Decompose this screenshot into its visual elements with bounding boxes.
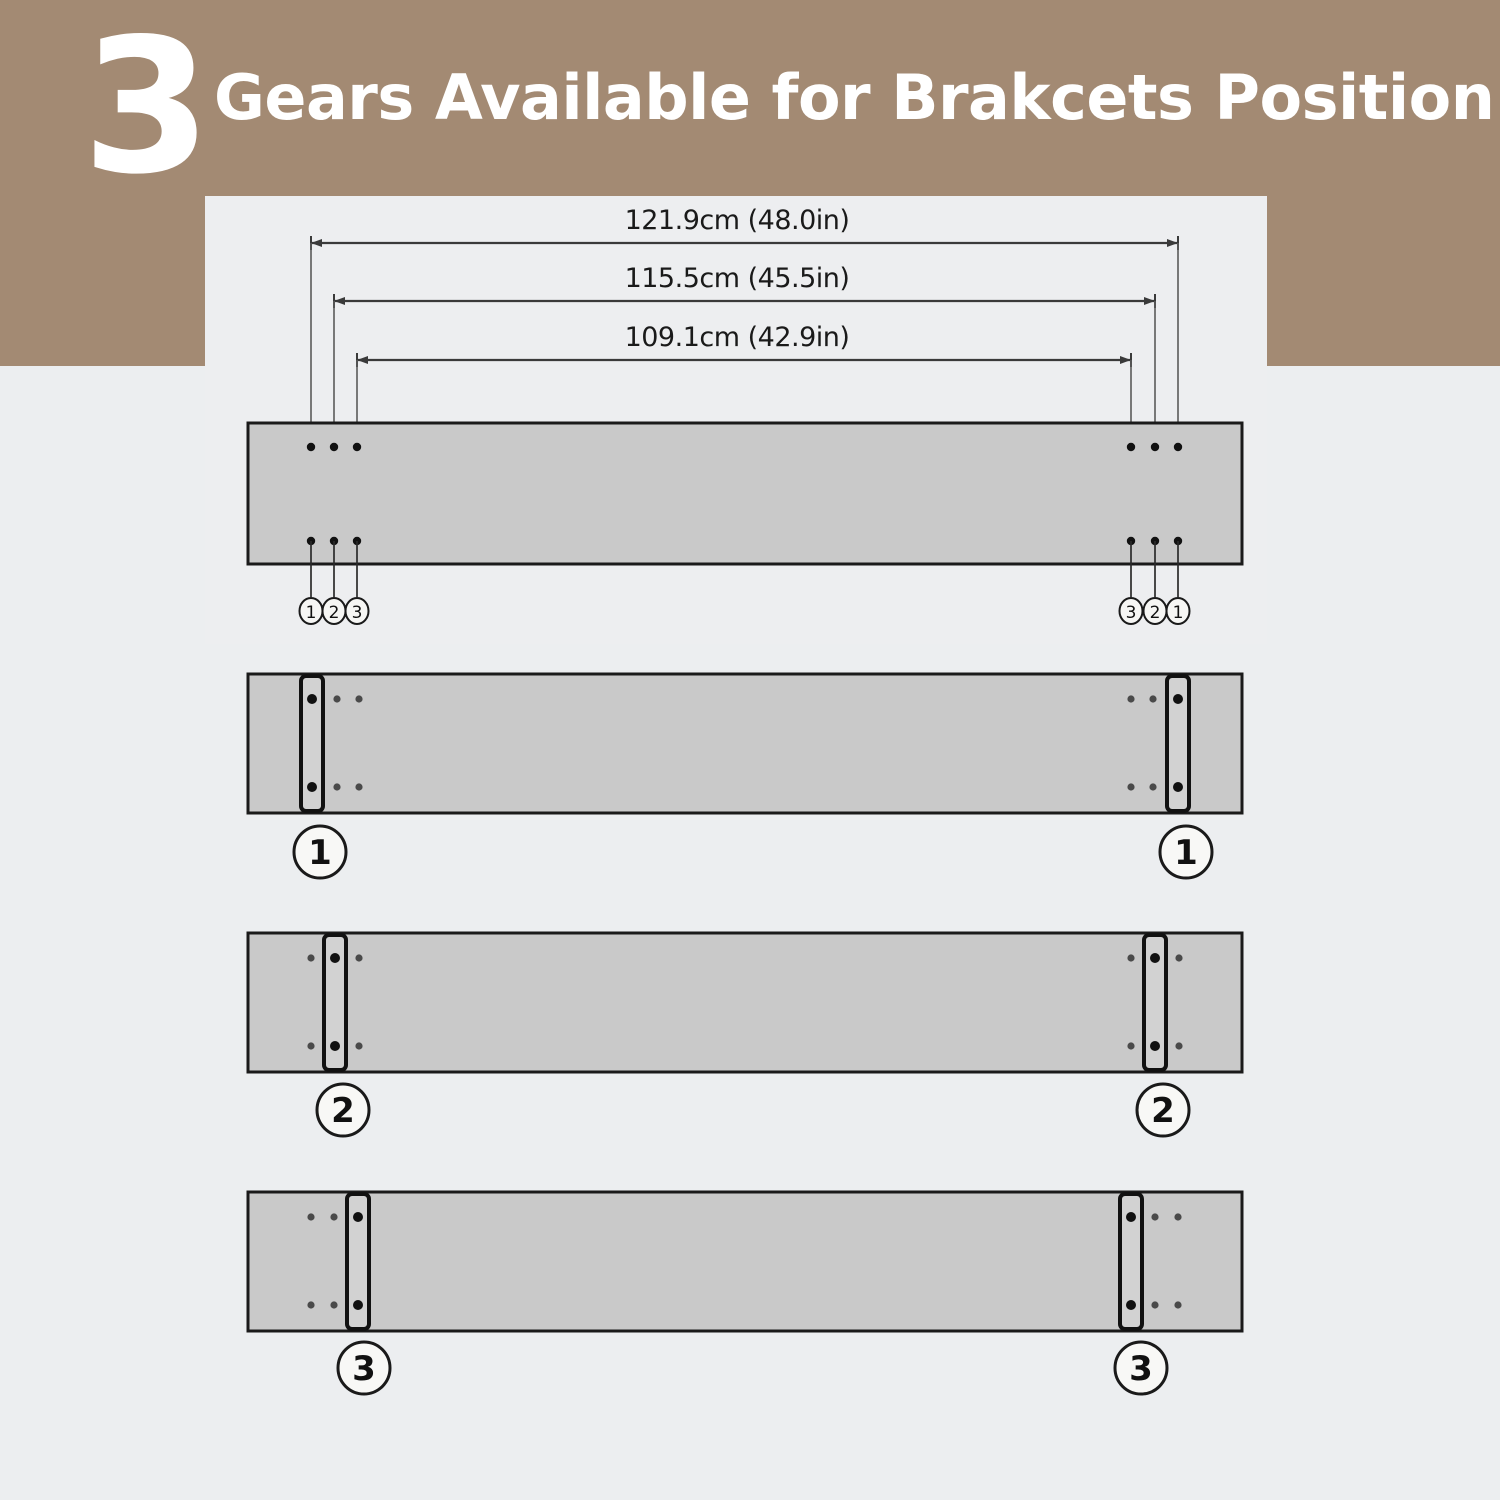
bracket-hole xyxy=(1173,694,1183,704)
callout-label: 2 xyxy=(1151,1091,1175,1131)
hole xyxy=(307,1301,314,1308)
hole xyxy=(1127,695,1134,702)
callout-label: 2 xyxy=(329,603,340,623)
hole xyxy=(1174,1213,1181,1220)
hole xyxy=(307,954,314,961)
callout-label: 1 xyxy=(308,833,332,873)
callout-label: 3 xyxy=(1126,603,1137,623)
callout-label: 3 xyxy=(352,1349,376,1389)
overview-callout-left-1: 1 xyxy=(300,598,323,624)
board-gear-3: 3 3 xyxy=(248,1192,1242,1394)
board-callout-left-3: 3 xyxy=(338,1342,390,1394)
bracket-hole xyxy=(1173,782,1183,792)
board-gear-2: 2 2 xyxy=(248,933,1242,1136)
hole xyxy=(1151,1301,1158,1308)
hole xyxy=(307,1213,314,1220)
hole xyxy=(355,954,362,961)
hole xyxy=(330,443,338,451)
callout-label: 1 xyxy=(1173,603,1184,623)
callout-label: 1 xyxy=(1174,833,1198,873)
callout-label: 2 xyxy=(331,1091,355,1131)
callout-label: 2 xyxy=(1150,603,1161,623)
hole xyxy=(1127,443,1135,451)
board-callout-right-2: 2 xyxy=(1137,1084,1189,1136)
bracket-hole xyxy=(1126,1212,1136,1222)
board-callout-left-1: 1 xyxy=(294,826,346,878)
bracket-hole xyxy=(353,1212,363,1222)
hole xyxy=(1149,783,1156,790)
hole xyxy=(1127,1042,1134,1049)
hole xyxy=(307,443,315,451)
board-callout-right-1: 1 xyxy=(1160,826,1212,878)
dimension-gear-2: 115.5cm (45.5in) xyxy=(334,263,1155,443)
bracket-hole xyxy=(1150,1041,1160,1051)
overview-callout-right-1: 1 xyxy=(1167,598,1190,624)
overview-callout-right-2: 2 xyxy=(1144,598,1167,624)
diagram-canvas: 121.9cm (48.0in) 115.5cm (45.5in) 109.1c… xyxy=(0,0,1500,1500)
board-callout-left-2: 2 xyxy=(317,1084,369,1136)
callout-label: 3 xyxy=(352,603,363,623)
overview-callout-right-3: 3 xyxy=(1120,598,1143,624)
bracket-hole xyxy=(330,953,340,963)
overview-board xyxy=(248,423,1242,564)
hole xyxy=(1175,954,1182,961)
hole xyxy=(1151,1213,1158,1220)
hole xyxy=(1149,695,1156,702)
hole xyxy=(355,1042,362,1049)
board-callout-right-3: 3 xyxy=(1115,1342,1167,1394)
hole xyxy=(355,783,362,790)
hole xyxy=(330,1301,337,1308)
bracket-hole xyxy=(1150,953,1160,963)
hole xyxy=(355,695,362,702)
overview-callout-left-2: 2 xyxy=(323,598,346,624)
dimension-label-gear-1: 121.9cm (48.0in) xyxy=(625,205,850,236)
hole xyxy=(1174,1301,1181,1308)
overview-diagram: 121.9cm (48.0in) 115.5cm (45.5in) 109.1c… xyxy=(248,205,1242,624)
dimension-label-gear-3: 109.1cm (42.9in) xyxy=(625,322,850,353)
bracket-hole xyxy=(307,694,317,704)
board-gear-1: 1 1 xyxy=(248,674,1242,878)
hole xyxy=(353,443,361,451)
hole xyxy=(1174,443,1182,451)
hole xyxy=(330,1213,337,1220)
callout-label: 3 xyxy=(1129,1349,1153,1389)
overview-callout-left-3: 3 xyxy=(346,598,369,624)
dimension-label-gear-2: 115.5cm (45.5in) xyxy=(625,263,850,294)
bracket-hole xyxy=(330,1041,340,1051)
hole xyxy=(1127,954,1134,961)
hole xyxy=(1175,1042,1182,1049)
hole xyxy=(333,695,340,702)
bracket-hole xyxy=(1126,1300,1136,1310)
hole xyxy=(1151,443,1159,451)
hole xyxy=(307,1042,314,1049)
hole xyxy=(333,783,340,790)
hole xyxy=(1127,783,1134,790)
callout-label: 1 xyxy=(306,603,317,623)
bracket-hole xyxy=(353,1300,363,1310)
bracket-hole xyxy=(307,782,317,792)
